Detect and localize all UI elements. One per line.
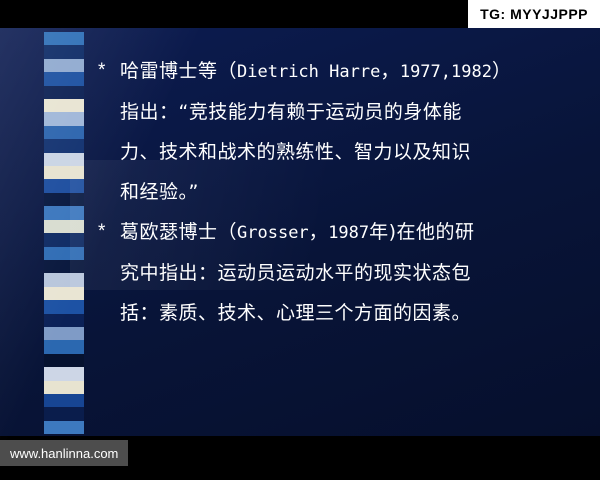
slide-body-text: *哈雷博士等（Dietrich Harre，1977,1982）指出：“竞技能力…: [98, 52, 568, 334]
bullet-text-line: 力、技术和战术的熟练性、智力以及知识: [120, 133, 568, 171]
color-swatch: [44, 139, 84, 152]
color-swatch: [44, 247, 84, 260]
site-watermark: www.hanlinna.com: [0, 440, 128, 466]
bullet-text-line: 究中指出：运动员运动水平的现实状态包: [120, 254, 568, 292]
color-swatch: [44, 112, 84, 125]
bullet-line: 括：素质、技术、心理三个方面的因素。: [98, 294, 568, 332]
bullet-line: *葛欧瑟博士（Grosser，1987年)在他的研: [98, 213, 568, 252]
color-swatch: [44, 45, 84, 58]
color-swatch: [44, 166, 84, 179]
color-swatch: [44, 367, 84, 380]
color-swatch: [44, 72, 84, 85]
bullet-marker: *: [98, 213, 120, 251]
decorative-color-column: [44, 32, 84, 434]
color-swatch: [44, 32, 84, 45]
color-swatch: [44, 126, 84, 139]
bullet-text-line: 和经验。”: [120, 173, 568, 211]
color-swatch: [44, 340, 84, 353]
color-swatch: [44, 381, 84, 394]
color-swatch: [44, 99, 84, 112]
color-swatch: [44, 314, 84, 327]
bullet-line: 指出：“竞技能力有赖于运动员的身体能: [98, 93, 568, 131]
bullet-text-line: 哈雷博士等（Dietrich Harre，1977,1982）: [120, 52, 568, 91]
bullet-line: *哈雷博士等（Dietrich Harre，1977,1982）: [98, 52, 568, 91]
site-watermark-text: www.hanlinna.com: [10, 446, 118, 461]
color-swatch: [44, 153, 84, 166]
color-swatch: [44, 220, 84, 233]
bullet-text-line: 括：素质、技术、心理三个方面的因素。: [120, 294, 568, 332]
color-swatch: [44, 300, 84, 313]
slide-canvas: *哈雷博士等（Dietrich Harre，1977,1982）指出：“竞技能力…: [0, 0, 600, 480]
color-swatch: [44, 421, 84, 434]
color-swatch: [44, 179, 84, 192]
bullet-text-line: 指出：“竞技能力有赖于运动员的身体能: [120, 93, 568, 131]
color-swatch: [44, 86, 84, 99]
bullet-marker: *: [98, 52, 120, 90]
telegram-tag-text: TG: MYYJJPPP: [480, 6, 588, 22]
color-swatch: [44, 193, 84, 206]
color-swatch: [44, 206, 84, 219]
bullet-text-line: 葛欧瑟博士（Grosser，1987年)在他的研: [120, 213, 568, 252]
color-swatch: [44, 394, 84, 407]
color-swatch: [44, 407, 84, 420]
bullet-line: 力、技术和战术的熟练性、智力以及知识: [98, 133, 568, 171]
bullet-line: 究中指出：运动员运动水平的现实状态包: [98, 254, 568, 292]
color-swatch: [44, 354, 84, 367]
color-swatch: [44, 287, 84, 300]
telegram-tag-badge: TG: MYYJJPPP: [468, 0, 600, 28]
color-swatch: [44, 273, 84, 286]
bullet-line: 和经验。”: [98, 173, 568, 211]
color-swatch: [44, 233, 84, 246]
color-swatch: [44, 327, 84, 340]
color-swatch: [44, 260, 84, 273]
color-swatch: [44, 59, 84, 72]
